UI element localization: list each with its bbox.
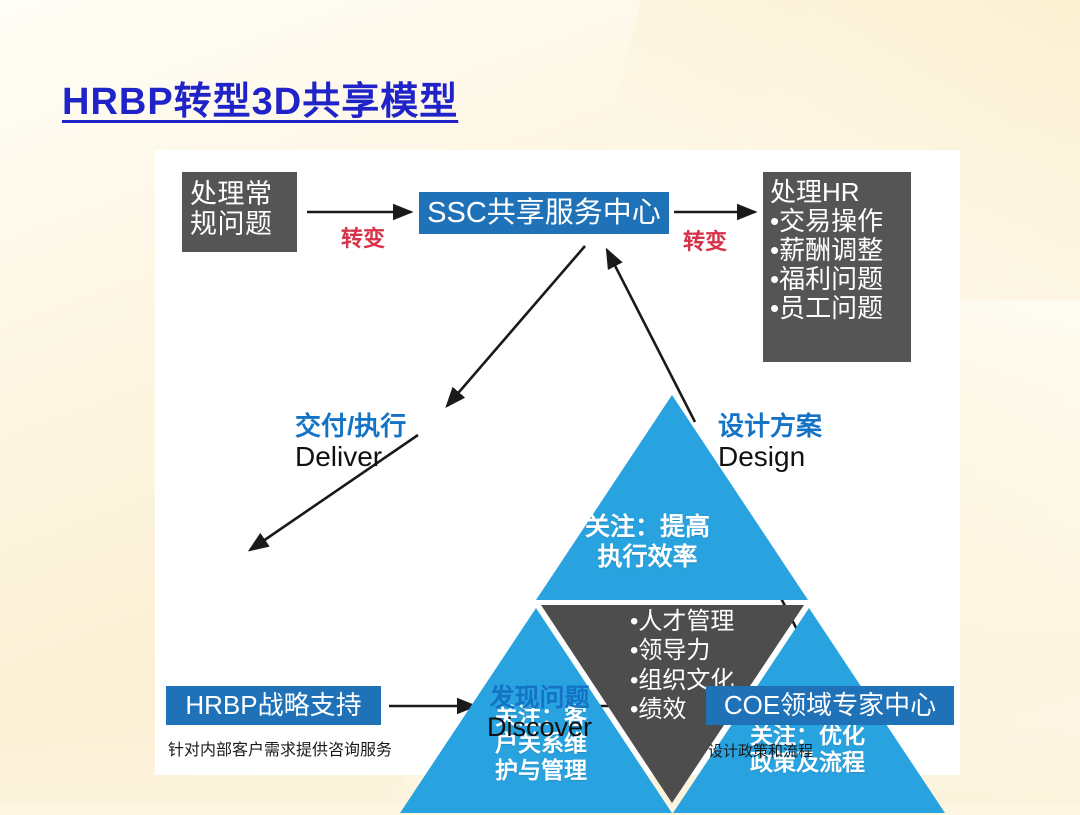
coe-center-label: COE领域专家中心 — [724, 691, 936, 720]
coe-center-caption: 设计政策和流程 — [708, 740, 813, 761]
transform-label-left: 转变 — [341, 221, 385, 253]
routine-issues-box[interactable]: 处理常 规问题 — [182, 172, 297, 252]
design-label-cn: 设计方案 — [718, 412, 822, 442]
hr-tasks-item: •员工问题 — [770, 294, 911, 323]
slide-canvas: HRBP转型3D共享模型 — [0, 0, 1080, 805]
center-item: •领导力 — [630, 636, 734, 665]
hrbp-strategy-caption: 针对内部客户需求提供咨询服务 — [168, 736, 392, 760]
ssc-box[interactable]: SSC共享服务中心 — [419, 192, 669, 234]
ssc-box-label: SSC共享服务中心 — [427, 197, 661, 229]
deliver-label-en: Deliver — [295, 442, 406, 473]
deliver-label-cn: 交付/执行 — [295, 412, 406, 442]
discover-label: 发现问题 Discover — [487, 684, 592, 742]
discover-label-en: Discover — [487, 713, 592, 743]
sierpinski-triangle-graphic: 关注：提高 执行效率 关注：客 户关系维 护与管理 关注：优化 政策及流程 •人… — [400, 395, 945, 815]
hr-tasks-item: •福利问题 — [770, 265, 911, 294]
hr-tasks-box[interactable]: 处理HR •交易操作 •薪酬调整 •福利问题 •员工问题 — [763, 172, 911, 362]
design-label: 设计方案 Design — [718, 412, 822, 473]
design-label-en: Design — [718, 442, 822, 473]
transform-label-right: 转变 — [683, 224, 727, 256]
deliver-label: 交付/执行 Deliver — [295, 412, 406, 473]
center-item: •人才管理 — [630, 607, 734, 636]
triangle-top-line2: 执行效率 — [585, 543, 710, 573]
hr-tasks-item: •交易操作 — [770, 207, 911, 236]
coe-center-box[interactable]: COE领域专家中心 — [706, 686, 954, 725]
triangle-top-label: 关注：提高 执行效率 — [585, 513, 710, 572]
hr-tasks-heading: 处理HR — [770, 178, 911, 207]
discover-label-cn: 发现问题 — [487, 684, 592, 713]
hrbp-strategy-box[interactable]: HRBP战略支持 — [166, 686, 381, 725]
hrbp-strategy-label: HRBP战略支持 — [185, 691, 361, 720]
page-title: HRBP转型3D共享模型 — [62, 70, 458, 125]
routine-issues-line1: 处理常 — [190, 179, 297, 209]
hr-tasks-item: •薪酬调整 — [770, 236, 911, 265]
triangle-left-line3: 护与管理 — [495, 757, 587, 784]
triangle-top-line1: 关注：提高 — [585, 513, 710, 543]
routine-issues-line2: 规问题 — [190, 209, 297, 239]
